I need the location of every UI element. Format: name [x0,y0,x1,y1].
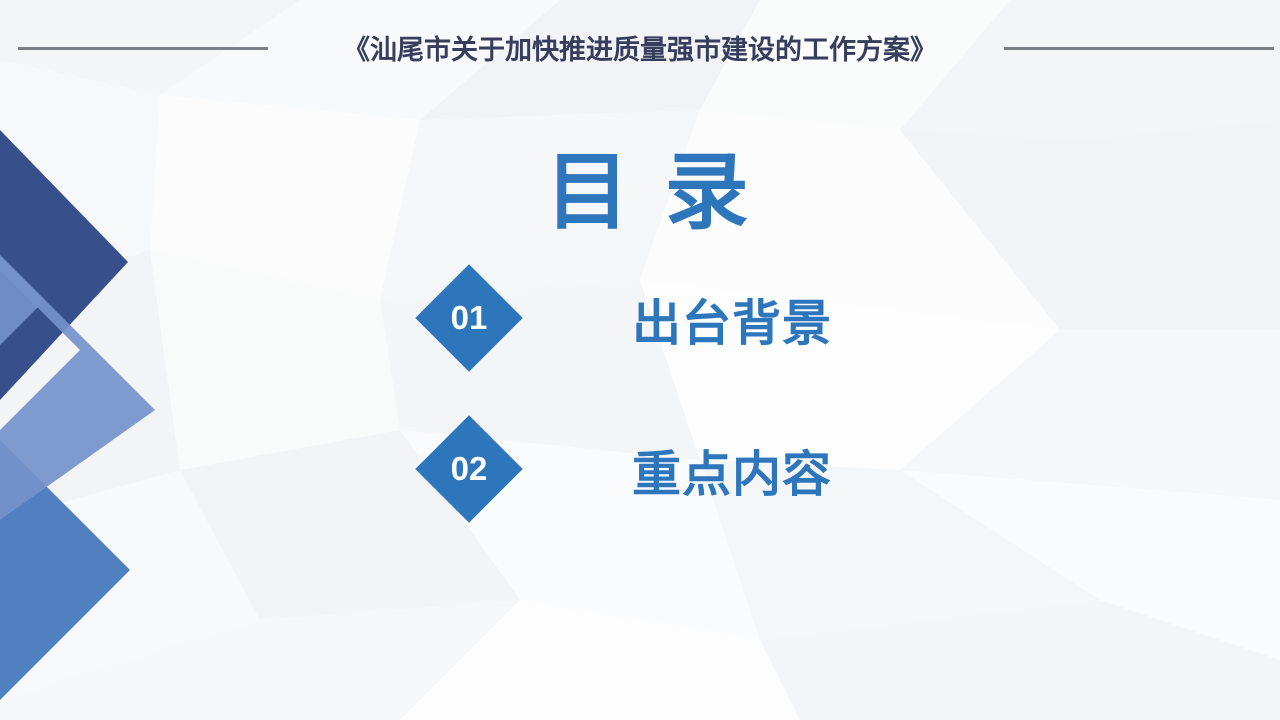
slide-header: 《汕尾市关于加快推进质量强市建设的工作方案》 [0,30,1280,70]
toc-entry-02[interactable]: 02 重点内容 [420,425,1120,545]
chevron-top-shape [0,130,128,400]
page-title: 目 录 [390,140,910,244]
toc-entry-label: 出台背景 [632,274,832,364]
header-rule-left [18,47,268,50]
toc-entry-01[interactable]: 01 出台背景 [420,274,1120,394]
toc-entry-label: 重点内容 [632,425,832,515]
header-rule-right [1004,47,1274,50]
left-chevron-decoration [0,0,200,720]
toc-entry-number: 02 [431,431,507,507]
toc-entry-number: 01 [431,280,507,356]
document-title: 《汕尾市关于加快推进质量强市建设的工作方案》 [280,30,1000,70]
slide-canvas: 《汕尾市关于加快推进质量强市建设的工作方案》 目 录 01 出台背景 02 重点… [0,0,1280,720]
